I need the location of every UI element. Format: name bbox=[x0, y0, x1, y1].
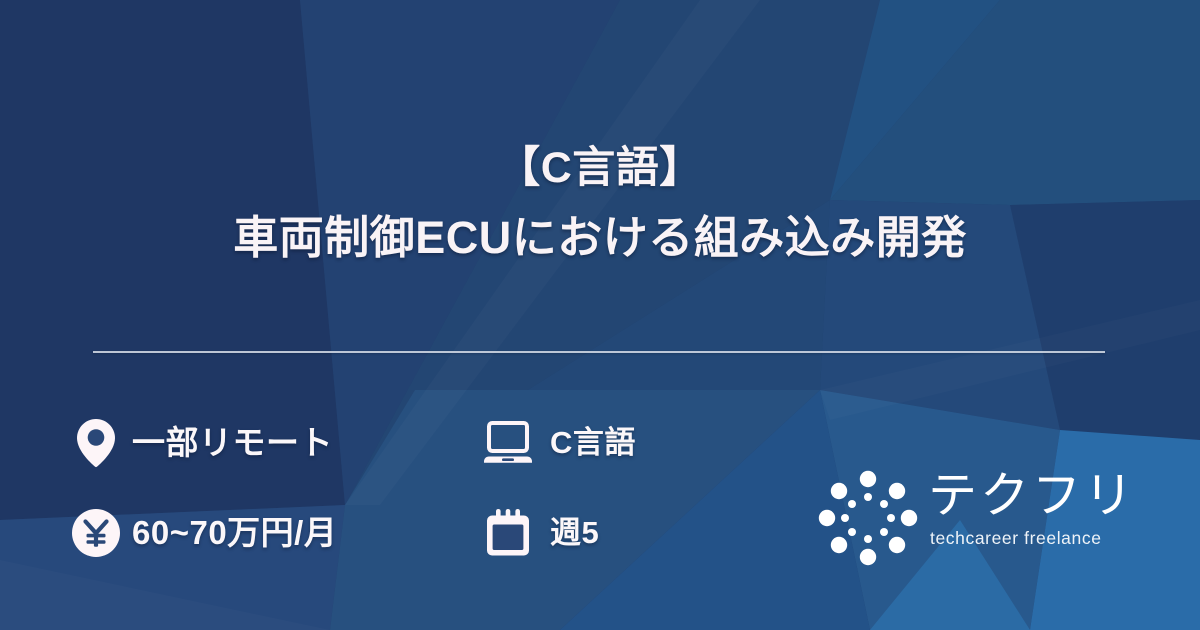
dot-ring-logo-icon bbox=[818, 470, 918, 566]
ogp-card: 【C言語】 車両制御ECUにおける組み込み開発 一部リモート bbox=[0, 0, 1200, 630]
attribute-days-label: 週5 bbox=[550, 513, 599, 553]
laptop-icon bbox=[480, 415, 536, 471]
attribute-rate-label: 60~70万円/月 bbox=[132, 513, 337, 553]
attribute-language-label: C言語 bbox=[550, 423, 636, 463]
attribute-work-style-label: 一部リモート bbox=[132, 423, 333, 463]
job-attributes: 一部リモート C言語 bbox=[68, 398, 788, 578]
brand-name: テクフリ bbox=[928, 468, 1143, 524]
divider bbox=[93, 351, 1105, 353]
brand-tagline: techcareer freelance bbox=[930, 526, 1143, 550]
attribute-language: C言語 bbox=[480, 415, 780, 471]
brand-logo: テクフリ techcareer freelance bbox=[818, 468, 1138, 568]
title-line-2: 車両制御ECUにおける組み込み開発 bbox=[0, 203, 1200, 273]
brand-logo-text: テクフリ techcareer freelance bbox=[928, 468, 1143, 550]
calendar-icon bbox=[480, 505, 536, 561]
attribute-work-style: 一部リモート bbox=[68, 415, 480, 471]
attribute-rate: 60~70万円/月 bbox=[68, 505, 480, 561]
title-line-1: 【C言語】 bbox=[0, 133, 1200, 203]
info-row: 一部リモート C言語 bbox=[68, 398, 788, 488]
info-row: 60~70万円/月 週5 bbox=[68, 488, 788, 578]
attribute-days: 週5 bbox=[480, 505, 780, 561]
page-title: 【C言語】 車両制御ECUにおける組み込み開発 bbox=[0, 133, 1200, 273]
yen-circle-icon bbox=[68, 505, 124, 561]
location-pin-icon bbox=[68, 415, 124, 471]
